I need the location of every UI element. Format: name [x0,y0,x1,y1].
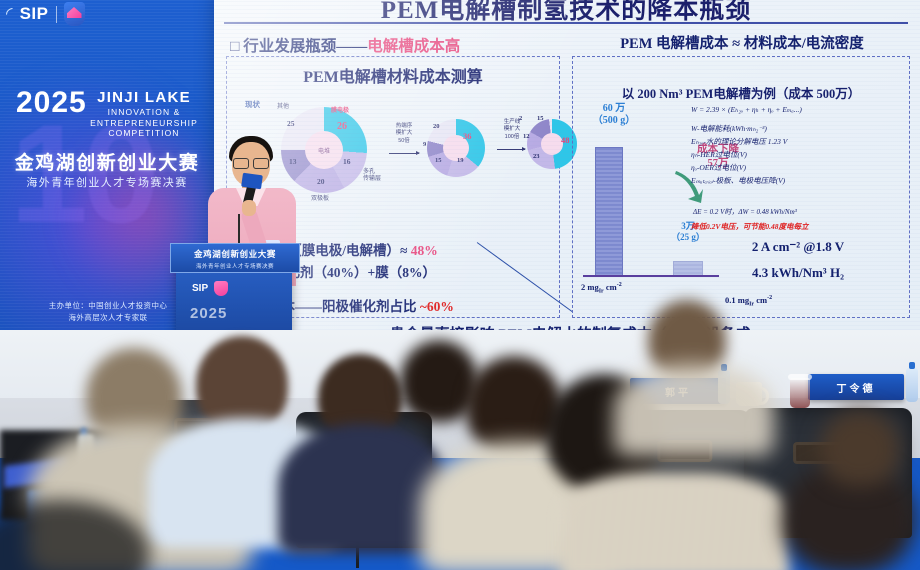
podium-sign-title: 金鸡湖创新创业大赛 [171,248,299,260]
banner-en-line4: COMPETITION [88,128,200,138]
banner-year: 2025 [16,88,87,118]
donut2-value-bp: 15 [435,157,442,164]
formula-def-0: W-电解能耗(kWh·mₕ₂⁻³) [691,123,911,136]
banner-english: JINJI LAKE INNOVATION & ENTREPRENEURSHIP… [88,89,200,138]
donut3-value-ep: 15 [537,115,544,122]
banner-cn-title: 金鸡湖创新创业大赛 [14,148,200,175]
left-card-line2-value: 48% [411,243,438,258]
donut-center-label: 电堆 [305,131,343,169]
donut3-value-other: 2 [519,115,522,122]
subtitle-left-prefix: □ 行业发展瓶颈—— [230,38,367,55]
bar-high-sub: （500 g） [583,115,645,127]
host-line-1: 主办单位：中国创业人才投资中心 [18,300,198,312]
banner-en-line1: JINJI LAKE [88,89,200,107]
bar-high-top: 60 万 [583,103,645,115]
event-banner: 2025 JINJI LAKE INNOVATION & ENTREPRENEU… [14,86,200,246]
water-bottle-2 [906,368,918,402]
formula-def-4: Eₘₐₜₑᵣᵢₐₗ-极板、电极电压降(V) [691,175,911,188]
banner-en-line2: INNOVATION & [88,107,200,117]
conference-photo: ◜ SIP 10 2025 JINJI LAKE INNOVATION & EN… [0,0,920,570]
sip-logo: ◜ SIP [6,2,85,26]
donut1-label-ptl: 多孔传输层 [363,169,389,183]
subtitle-left-highlight: 电解槽成本高 [367,38,460,55]
donut1-value-bp: 20 [317,177,325,186]
speaker-hand [242,200,256,216]
callout-line-1 [477,242,573,312]
donut-chart-step2 [527,119,577,169]
banner-cn-subtitle: 海外青年创业人才专场赛决赛 [14,174,200,190]
swoosh-icon: ◜ [6,4,13,24]
host-line-2: 海外高层次人才专家联 [18,312,198,324]
result-line-2: 4.3 kWh/Nm³ H₂ [693,265,903,281]
right-card: 以 200 Nm³ PEM电解槽为例（成本 500万） 60 万 （500 g）… [572,56,910,318]
step-arrow-1-icon [389,153,419,154]
donut1-label-other: 其他 [277,101,289,110]
step-label-1: 热端序模扩大50倍 [387,123,421,145]
bar-xlabel-2: 0.1 mgIr cm-2 [725,295,772,308]
donut1-value-other: 25 [287,119,295,128]
step-arrow-2-icon [497,149,525,150]
speaker-glasses-icon [233,158,269,167]
donut2-value-ep: 9 [423,141,426,148]
podium-shield-icon [214,281,228,296]
podium-sign-subtitle: 海外青年创业人才专场赛决赛 [171,262,299,270]
donut3-value-ptl: 23 [533,153,540,160]
slide-subtitle-right: PEM 电解槽成本 ≈ 材料成本/电流密度 [574,32,910,53]
bar-xlabel-1: 2 mgIr cm-2 [581,282,622,295]
right-card-head: 以 200 Nm³ PEM电解槽为例（成本 500万） [573,83,909,102]
banner-host-info: 主办单位：中国创业人才投资中心 海外高层次人才专家联 [18,300,198,323]
left-card-title: PEM电解槽材料成本测算 [227,63,559,87]
donut3-center [541,133,563,155]
donut1-value-mea: 26 [337,121,347,132]
donut1-label-bp: 双极板 [311,193,329,202]
sip-logo-text: SIP [20,4,49,24]
donut1-value-ptl: 16 [343,157,351,166]
audience-shoulders-7 [614,364,774,456]
formula-def-2: ηₕ-HER过电位(V) [691,149,911,162]
delta-red-note: 降低0.2V电压，可节能0.48度电每立 [691,221,809,232]
shield-icon [64,2,85,26]
status-label: 现状 [245,99,260,110]
formula-def-3: ηₒ-OER过电位(V) [691,162,911,175]
name-plate-ding-lingde: 丁令德 [808,374,904,400]
donut2-value-mea: 36 [463,131,472,141]
delta-line: ΔE = 0.2 V时，ΔW = 0.48 kWh/Nm³ [693,207,797,217]
audience-head-9 [820,410,900,486]
donut3-value-bp: 12 [523,133,530,140]
drink-cup [790,378,810,408]
formula-def-1: Eₕ₂ₒ-水的理论分解电压 1.23 V [691,136,911,149]
podium-year: 2025 [190,305,227,322]
banner-en-line3: ENTREPRENEURSHIP [88,118,200,128]
microphone-flag [241,173,263,190]
bar-high [595,147,623,277]
logo-divider [56,6,57,23]
podium-logo-text: SIP [192,283,208,294]
formula-definitions: W-电解能耗(kWh·mₕ₂⁻³) Eₕ₂ₒ-水的理论分解电压 1.23 V η… [691,123,911,187]
slide-title-rule [224,22,908,24]
donut3-value-mea: 48 [561,135,570,145]
result-line-1: 2 A cm⁻² @1.8 V [693,239,903,255]
left-card-line4-value: ~60% [420,299,454,314]
podium-logo: SIP [192,281,228,296]
podium-sign: 金鸡湖创新创业大赛 海外青年创业人才专场赛决赛 [170,243,300,273]
energy-formula: W = 2.39 × (Eₕ₂ₒ + ηₕ + ηₒ + Eₘₐ...) [691,105,802,114]
bar-high-label: 60 万 （500 g） [583,103,645,127]
audience-striped-shirt [560,472,790,570]
donut2-value-ptl: 19 [457,157,464,164]
slide-subtitle-left: □ 行业发展瓶颈——电解槽成本高 [230,34,560,56]
donut2-value-other: 20 [433,123,440,130]
donut1-label-mea: 膜电极 [331,105,349,114]
